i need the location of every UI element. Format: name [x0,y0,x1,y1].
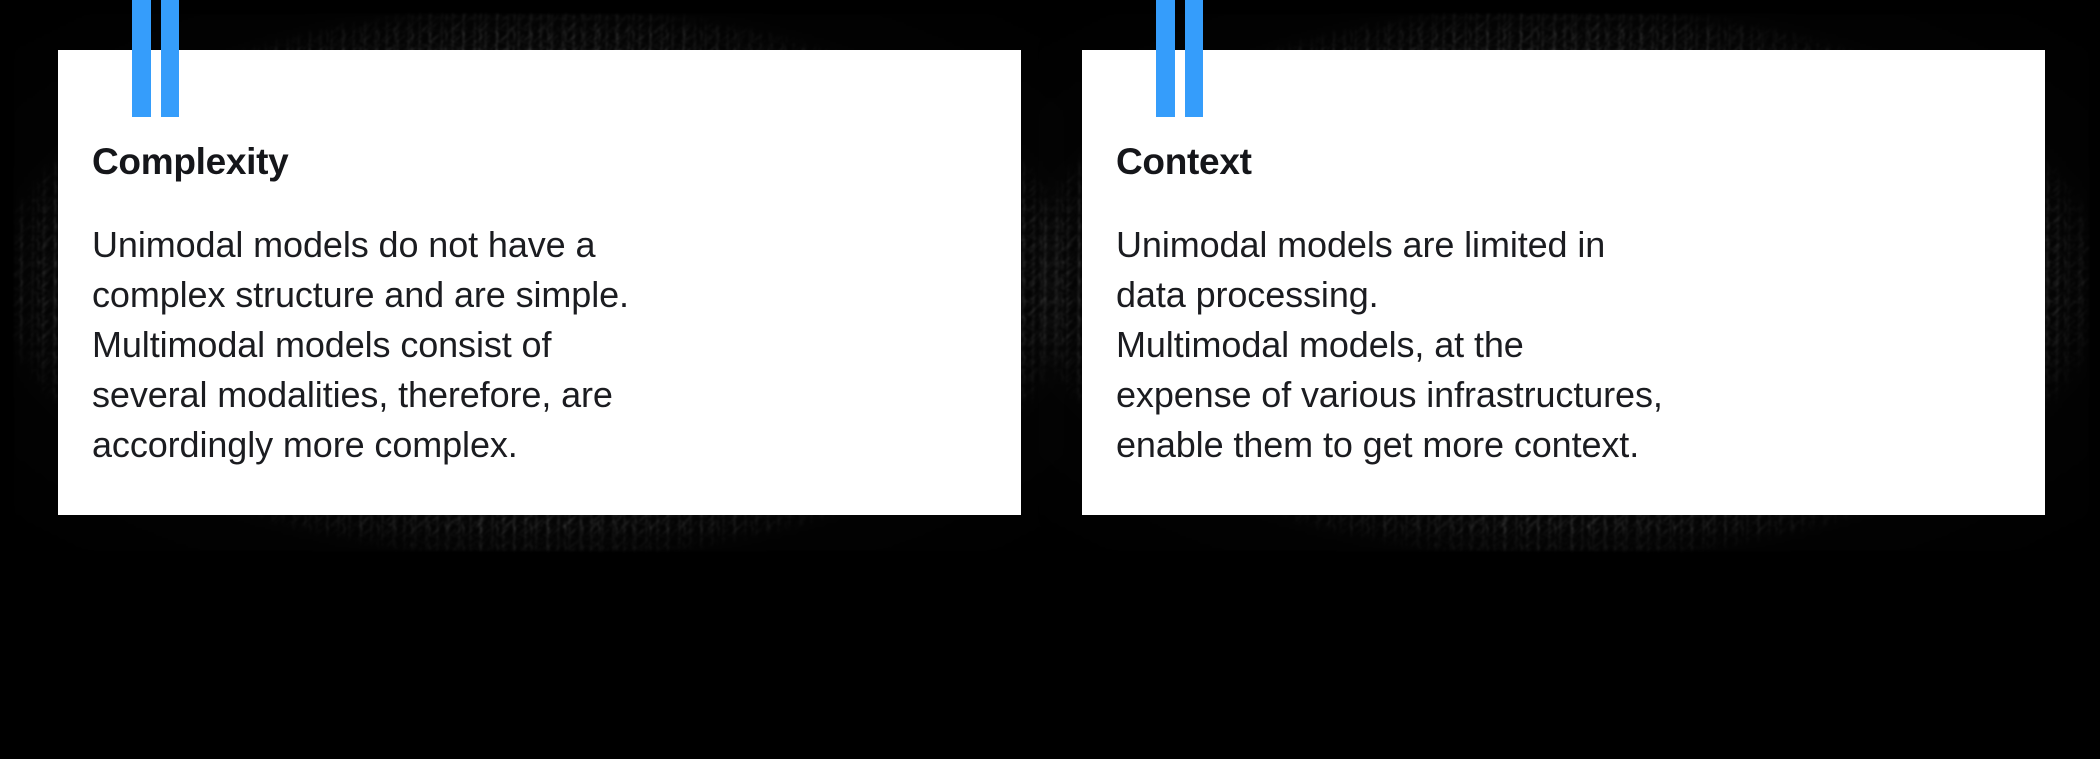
accent-bar-right-context [1185,0,1203,117]
card-complexity-content: Complexity Unimodal models do not have a… [58,50,1021,515]
accent-bar-right-complexity [161,0,179,117]
card-context-body: Unimodal models are limited in data proc… [1116,184,2045,470]
card-context-content: Context Unimodal models are limited in d… [1082,50,2045,515]
accent-bar-left-context [1156,0,1175,117]
card-complexity-title: Complexity [92,140,1021,184]
slide-canvas: Complexity Unimodal models do not have a… [0,0,2100,759]
card-context-title: Context [1116,140,2045,184]
accent-bar-left-complexity [132,0,151,117]
card-complexity[interactable]: Complexity Unimodal models do not have a… [58,50,1021,515]
card-complexity-body: Unimodal models do not have a complex st… [92,184,1021,470]
card-context[interactable]: Context Unimodal models are limited in d… [1082,50,2045,515]
